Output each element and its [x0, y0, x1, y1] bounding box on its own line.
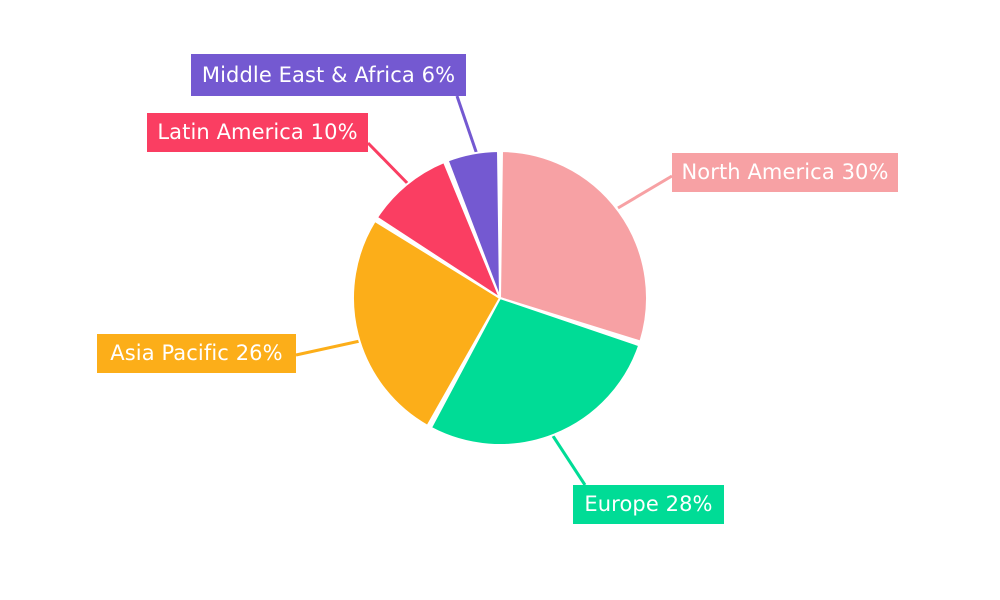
pie-chart-canvas: North America 30%Europe 28%Asia Pacific … — [0, 0, 1000, 600]
pie-slice-group — [353, 151, 647, 445]
pie-label-asia-pacific[interactable]: Asia Pacific 26% — [97, 334, 296, 373]
leader-line-asia-pacific — [296, 341, 360, 355]
pie-label-middle-east-africa[interactable]: Middle East & Africa 6% — [191, 54, 466, 96]
pie-label-europe[interactable]: Europe 28% — [573, 485, 724, 524]
leader-line-north-america — [618, 176, 672, 208]
pie-label-latin-america[interactable]: Latin America 10% — [147, 113, 368, 152]
pie-label-north-america[interactable]: North America 30% — [672, 153, 898, 192]
leader-line-europe — [553, 436, 585, 485]
pie-chart-svg — [0, 0, 1000, 600]
